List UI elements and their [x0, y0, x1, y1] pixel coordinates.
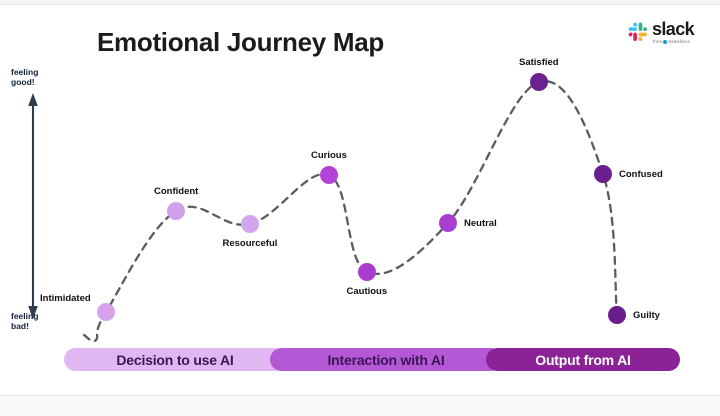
phase-segment-output[interactable]: Output from AI — [486, 348, 680, 371]
node-label-neutral: Neutral — [464, 218, 497, 229]
phase-bar: Decision to use AI Interaction with AI O… — [64, 348, 680, 371]
node-label-confident: Confident — [154, 186, 198, 197]
journey-node[interactable] — [241, 215, 259, 233]
node-label-intimidated: Intimidated — [40, 293, 91, 304]
journey-node[interactable] — [530, 73, 548, 91]
journey-node[interactable] — [167, 202, 185, 220]
journey-node[interactable] — [594, 165, 612, 183]
journey-node[interactable] — [320, 166, 338, 184]
journey-node[interactable] — [358, 263, 376, 281]
node-label-cautious: Cautious — [347, 286, 388, 297]
phase-segment-decision[interactable]: Decision to use AI — [64, 348, 286, 371]
journey-node[interactable] — [608, 306, 626, 324]
phase-segment-interaction[interactable]: Interaction with AI — [270, 348, 502, 371]
journey-node[interactable] — [439, 214, 457, 232]
journey-line — [84, 81, 617, 341]
slide-canvas: Emotional Journey Map slack fromSalesfor… — [0, 0, 720, 416]
bottom-border — [0, 395, 720, 416]
node-label-satisfied: Satisfied — [519, 57, 559, 68]
diagram-area: Emotional Journey Map slack fromSalesfor… — [0, 5, 720, 395]
node-label-confused: Confused — [619, 169, 663, 180]
node-label-resourceful: Resourceful — [223, 238, 278, 249]
journey-node[interactable] — [97, 303, 115, 321]
journey-curve — [0, 5, 720, 395]
node-label-curious: Curious — [311, 150, 347, 161]
node-label-guilty: Guilty — [633, 310, 660, 321]
